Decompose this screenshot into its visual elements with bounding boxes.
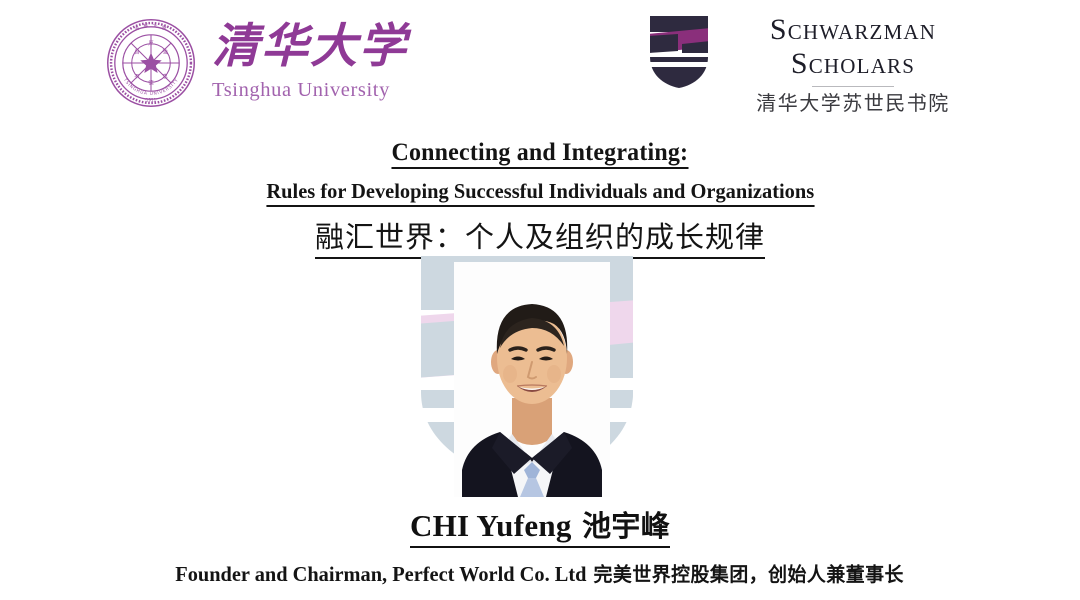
speaker-name-chinese: 池宇峰 xyxy=(572,509,670,543)
speaker-name: CHI Yufeng 池宇峰 xyxy=(410,506,670,548)
schwarzman-line1: Schwarzman xyxy=(728,12,978,47)
title-english-line-1: Connecting and Integrating: xyxy=(392,136,689,169)
tsinghua-chinese-name: 清华大学 xyxy=(212,18,412,76)
svg-text:德: 德 xyxy=(148,79,154,87)
speaker-role-english: Founder and Chairman, Perfect World Co. … xyxy=(176,562,587,586)
speaker-block: CHI Yufeng 池宇峰 Founder and Chairman, Per… xyxy=(0,506,1080,589)
portrait-area xyxy=(413,252,651,497)
svg-text:厚: 厚 xyxy=(148,40,154,47)
schwarzman-wordmark: Schwarzman Scholars 清华大学苏世民书院 xyxy=(728,12,978,115)
speaker-portrait xyxy=(454,262,610,497)
tsinghua-university-logo: 清 華 大 學 TSINGHUA UNIVERSITY 自強 不息 厚德 ·19… xyxy=(104,14,414,120)
schwarzman-line2: Scholars xyxy=(728,47,978,81)
svg-text:不: 不 xyxy=(134,73,140,80)
svg-text:息: 息 xyxy=(162,72,167,80)
speaker-role: Founder and Chairman, Perfect World Co. … xyxy=(176,560,905,589)
svg-text:·1911·: ·1911· xyxy=(144,98,157,103)
svg-text:自: 自 xyxy=(134,48,139,56)
speaker-name-english: CHI Yufeng xyxy=(410,508,572,543)
title-english-line-2: Rules for Developing Successful Individu… xyxy=(266,178,814,207)
tsinghua-english-name: Tsinghua University xyxy=(212,78,412,102)
svg-text:清 華 大 學: 清 華 大 學 xyxy=(133,22,168,32)
schwarzman-scholars-logo: Schwarzman Scholars 清华大学苏世民书院 xyxy=(648,12,978,127)
schwarzman-shield-icon xyxy=(648,14,710,90)
speaker-role-chinese: 完美世界控股集团，创始人兼董事长 xyxy=(587,563,904,586)
schwarzman-divider xyxy=(812,86,894,87)
title-block: Connecting and Integrating: Rules for De… xyxy=(0,136,1080,259)
schwarzman-chinese-name: 清华大学苏世民书院 xyxy=(728,91,978,115)
tsinghua-seal-icon: 清 華 大 學 TSINGHUA UNIVERSITY 自強 不息 厚德 ·19… xyxy=(104,16,198,110)
logo-header-row: 清 華 大 學 TSINGHUA UNIVERSITY 自強 不息 厚德 ·19… xyxy=(0,0,1080,132)
svg-text:強: 強 xyxy=(162,48,168,56)
tsinghua-wordmark: 清华大学 Tsinghua University xyxy=(212,18,412,118)
